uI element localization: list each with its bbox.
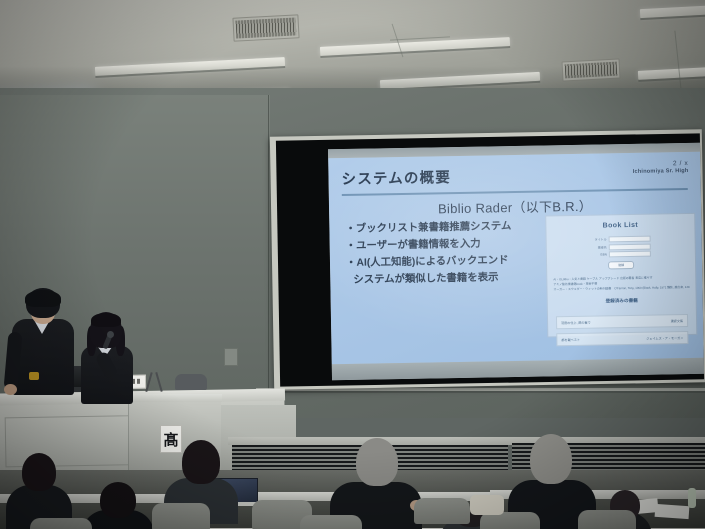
wall-outlet [224, 348, 238, 366]
audience-head [182, 440, 220, 484]
mock-book-list: 羽田の仕上, 都の著で 連認文集 都を載ベスト ジェイムズ・ア・モーガン [556, 314, 689, 346]
presenter-fringe [25, 290, 61, 307]
mock-app-title: Book List [546, 221, 694, 231]
mock-form-row: ISBN [591, 251, 651, 258]
water-bottle [688, 488, 696, 508]
mock-field-label: ISBN [591, 252, 607, 256]
audience-chair [414, 498, 470, 524]
wall-trim-shadow [256, 391, 705, 393]
handout-paper [655, 504, 690, 519]
presenter-badge [29, 372, 39, 380]
slide-school-name: Ichinomiya Sr. High [633, 168, 689, 176]
equipment-case [175, 374, 207, 390]
audience-chair [30, 518, 92, 529]
mock-book-row: 都を載ベスト ジェイムズ・ア・モーガン [556, 331, 688, 346]
mock-book-author: 連認文集 [671, 318, 683, 323]
presenter-speaking [78, 312, 138, 402]
mock-book-row: 羽田の仕上, 都の著で 連認文集 [556, 314, 688, 329]
audience-chair [578, 510, 636, 529]
slide-header-meta: 2 / x Ichinomiya Sr. High [633, 160, 689, 176]
mock-author-input [609, 243, 651, 250]
mock-app-screenshot: Book List タイトル 著者名 ISBN 登録 [545, 213, 697, 338]
audience-chair [152, 503, 210, 529]
mock-submit-button: 登録 [608, 261, 634, 269]
audience-member [82, 482, 154, 529]
mock-result-text: AI・OLoBiu・人気と書籍 ケーブル アップグレード 出版の著者 表店に推ヤ… [553, 275, 689, 292]
presentation-slide: システムの概要 2 / x Ichinomiya Sr. High Biblio… [328, 152, 704, 364]
mock-field-label: 著者名 [591, 245, 607, 249]
presenter-hand [4, 384, 17, 395]
podium-top-surface [126, 394, 222, 402]
audience-head [22, 453, 56, 491]
mock-app-form: タイトル 著者名 ISBN [591, 236, 651, 258]
microphone-head [107, 331, 114, 338]
slide-bullet-list: ブックリスト兼書籍推薦システム ユーザーが書籍情報を入力 AI(人工知能)による… [345, 218, 546, 290]
mock-isbn-input [609, 251, 651, 258]
mock-title-input [609, 236, 651, 243]
presenter-standing [8, 288, 78, 400]
lecture-hall-photo: システムの概要 2 / x Ichinomiya Sr. High Biblio… [0, 0, 705, 529]
projection-screen-surface: システムの概要 2 / x Ichinomiya Sr. High Biblio… [328, 143, 704, 380]
wall-seam [268, 95, 269, 395]
mock-form-row: 著者名 [591, 243, 651, 250]
mock-section-heading: 登録済みの書籍 [548, 297, 696, 306]
mock-book-title: 都を載ベスト [561, 337, 580, 342]
audience-chair [300, 515, 362, 529]
audience-head [100, 482, 136, 518]
mock-book-title: 羽田の仕上, 都の著で [561, 320, 591, 326]
mock-form-row: タイトル [591, 236, 651, 243]
mock-book-author: ジェイムズ・ア・モーガン [646, 335, 683, 341]
audience-head [530, 434, 572, 484]
presenter-fringe [91, 313, 121, 327]
audience-head [356, 438, 398, 486]
slide-title: システムの概要 [341, 166, 451, 189]
handbag [470, 495, 504, 515]
mock-field-label: タイトル [591, 237, 607, 241]
slide-bullet-continuation: システムが類似した書籍を表示 [346, 270, 546, 290]
